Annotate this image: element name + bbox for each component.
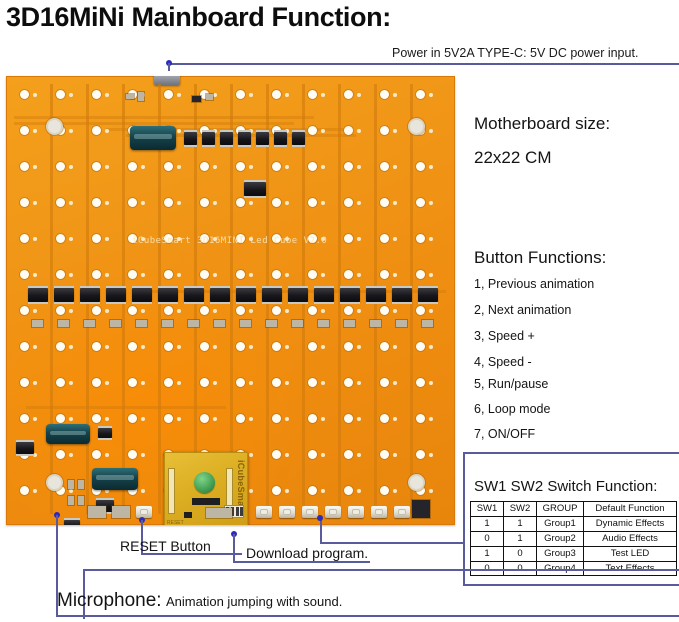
table-cell: Audio Effects — [584, 531, 677, 546]
pcb-via — [105, 273, 109, 277]
pcb-via — [321, 453, 325, 457]
pcb-via — [177, 129, 181, 133]
button-function-item: 3, Speed + — [474, 329, 535, 343]
pcb-via — [141, 453, 145, 457]
pcb-pad — [380, 414, 389, 423]
table-header-cell: Default Function — [584, 502, 677, 517]
pcb-pad — [380, 270, 389, 279]
pcb-pad — [20, 306, 29, 315]
pcb-via — [141, 201, 145, 205]
pcb-via — [321, 129, 325, 133]
module-reset-label: RESET — [167, 520, 184, 525]
pcb-via — [393, 273, 397, 277]
pcb-via — [33, 381, 37, 385]
pcb-pad — [308, 162, 317, 171]
pcb-via — [357, 381, 361, 385]
led-driver-ic — [54, 288, 74, 302]
pcb-pad — [200, 414, 209, 423]
pcb-via — [249, 201, 253, 205]
pcb-via — [285, 489, 289, 493]
smd-resistor — [138, 92, 144, 101]
pcb-pad — [272, 378, 281, 387]
led-driver-ic — [158, 288, 178, 302]
pcb-via — [393, 381, 397, 385]
pcb-pad — [56, 162, 65, 171]
button-function-item: 1, Previous animation — [474, 277, 594, 291]
pcb-via — [105, 381, 109, 385]
table-cell: 1 — [504, 531, 537, 546]
pcb-via — [393, 129, 397, 133]
pcb-pad — [308, 342, 317, 351]
pcb-via — [393, 345, 397, 349]
pcb-via — [177, 309, 181, 313]
pcb-pad — [344, 234, 353, 243]
pcb-via — [429, 453, 433, 457]
smd-resistor-pair — [240, 320, 251, 327]
pcb-pad — [308, 270, 317, 279]
led-driver-ic — [366, 288, 386, 302]
smd-resistor-pair — [344, 320, 355, 327]
mounting-hole — [410, 476, 423, 489]
pcb-via — [249, 165, 253, 169]
pcb-trace — [14, 116, 314, 119]
pcb-via — [429, 237, 433, 241]
smd-resistor — [68, 480, 74, 489]
pcb-pad — [20, 270, 29, 279]
pcb-pad — [56, 414, 65, 423]
pcb-via — [357, 345, 361, 349]
smd-resistor — [68, 496, 74, 505]
pcb-pad — [128, 378, 137, 387]
pcb-via — [429, 165, 433, 169]
table-cell: 0 — [504, 546, 537, 561]
download-program-label: Download program. — [246, 545, 368, 561]
pcb-via — [33, 129, 37, 133]
pcb-via — [177, 381, 181, 385]
pcb-via — [429, 93, 433, 97]
mounting-hole — [48, 476, 61, 489]
pcb-pad — [344, 306, 353, 315]
pcb-pad — [380, 198, 389, 207]
pcb-pad — [128, 342, 137, 351]
pcb-via — [321, 345, 325, 349]
pcb-via — [321, 273, 325, 277]
table-cell: Group3 — [537, 546, 584, 561]
module-chip — [184, 512, 192, 518]
function-button[interactable] — [256, 506, 272, 518]
pcb-pad — [164, 270, 173, 279]
page-title: 3D16MiNi Mainboard Function: — [6, 2, 391, 33]
pcb-via — [285, 93, 289, 97]
pcb-via — [69, 129, 73, 133]
pcb-pad — [56, 378, 65, 387]
pcb-pad — [380, 342, 389, 351]
smd-resistor-pair — [422, 320, 433, 327]
pcb-via — [177, 345, 181, 349]
pcb-via — [357, 489, 361, 493]
smd-resistor-pair — [162, 320, 173, 327]
function-button[interactable] — [302, 506, 318, 518]
pcb-via — [105, 93, 109, 97]
pcb-via — [33, 273, 37, 277]
led-driver-ic — [288, 288, 308, 302]
pcb-pad — [416, 342, 425, 351]
pcb-pad — [200, 306, 209, 315]
function-button[interactable] — [371, 506, 387, 518]
pcb-via — [141, 165, 145, 169]
pcb-via — [249, 93, 253, 97]
microphone-label: Microphone: — [57, 590, 162, 611]
pcb-pad — [380, 486, 389, 495]
pcb-via — [33, 345, 37, 349]
pcb-pad — [236, 414, 245, 423]
pcb-pad — [200, 198, 209, 207]
pcb-via — [249, 273, 253, 277]
motherboard-size-label: Motherboard size: — [474, 114, 610, 134]
pcb-pad — [92, 234, 101, 243]
pcb-pad — [272, 486, 281, 495]
pcb-via — [69, 309, 73, 313]
switch-function-table: SW1 SW2 GROUP Default Function 1 1 Group… — [470, 501, 677, 576]
electrolytic-capacitor — [130, 126, 176, 150]
pcb-pad — [200, 270, 209, 279]
pcb-via — [429, 345, 433, 349]
pcb-via — [357, 453, 361, 457]
pcb-pad — [344, 162, 353, 171]
pcb-via — [393, 309, 397, 313]
pcb-pad — [56, 90, 65, 99]
pcb-pad — [20, 90, 29, 99]
pcb-via — [357, 417, 361, 421]
pcb-via — [213, 165, 217, 169]
pcb-pad — [272, 162, 281, 171]
pcb-via — [213, 201, 217, 205]
pcb-pad — [200, 162, 209, 171]
pcb-via — [249, 453, 253, 457]
pcb-pad — [344, 378, 353, 387]
pcb-pad — [56, 198, 65, 207]
pcb-via — [69, 489, 73, 493]
pcb-via — [285, 345, 289, 349]
pcb-pad — [416, 198, 425, 207]
driver-ic — [220, 132, 233, 145]
pcb-pad — [272, 90, 281, 99]
microphone-callout-box-bottom — [56, 615, 679, 617]
pcb-via — [33, 237, 37, 241]
pcb-pad — [56, 234, 65, 243]
smd-resistor-pair — [318, 320, 329, 327]
pcb-via — [285, 417, 289, 421]
microphone-callout: Microphone: Animation jumping with sound… — [57, 590, 342, 612]
smd-resistor-pair — [370, 320, 381, 327]
pcb-pad — [416, 270, 425, 279]
reset-tactile-button[interactable] — [136, 506, 152, 518]
pcb-pad — [164, 378, 173, 387]
function-button[interactable] — [279, 506, 295, 518]
led-driver-ic — [314, 288, 334, 302]
pcb-pad — [92, 126, 101, 135]
driver-ic — [202, 132, 215, 145]
pcb-silkscreen-text: iCubeSmart 3D16MINI Led Cube V2.0 — [132, 236, 327, 246]
pcb-pad — [56, 450, 65, 459]
pcb-via — [429, 201, 433, 205]
microphone-description: Animation jumping with sound. — [166, 594, 342, 609]
pcb-via — [429, 489, 433, 493]
pcb-via — [393, 237, 397, 241]
pcb-via — [33, 417, 37, 421]
mounting-hole — [410, 120, 423, 133]
pcb-board: iCubeSmart 3D16MINI Led Cube V2.0 i — [6, 76, 455, 525]
table-header-row: SW1 SW2 GROUP Default Function — [471, 502, 677, 517]
table-row: 1 1 Group1 Dynamic Effects — [471, 516, 677, 531]
pcb-pad — [236, 342, 245, 351]
sw-block[interactable] — [112, 506, 130, 518]
pcb-via — [141, 309, 145, 313]
smd-resistor — [206, 94, 213, 100]
pcb-pad — [236, 306, 245, 315]
pcb-pad — [344, 198, 353, 207]
pcb-pad — [92, 414, 101, 423]
pcb-via — [393, 201, 397, 205]
pcb-pad — [200, 342, 209, 351]
pcb-via — [357, 309, 361, 313]
sw-block[interactable] — [88, 506, 106, 518]
regulator-ic — [64, 520, 80, 525]
pcb-pad — [380, 90, 389, 99]
program-header — [206, 508, 232, 518]
pcb-pad — [164, 342, 173, 351]
led-driver-ic — [262, 288, 282, 302]
pcb-via — [213, 345, 217, 349]
pcb-via — [69, 165, 73, 169]
pcb-pad — [308, 378, 317, 387]
pcb-via — [429, 273, 433, 277]
pcb-via — [141, 345, 145, 349]
pcb-pad — [380, 162, 389, 171]
pcb-via — [141, 273, 145, 277]
pcb-via — [285, 309, 289, 313]
switch-callout-leader — [320, 542, 465, 544]
pcb-via — [321, 165, 325, 169]
power-callout-line — [170, 63, 679, 65]
pcb-pad — [344, 414, 353, 423]
table-row: 1 0 Group3 Test LED — [471, 546, 677, 561]
pcb-via — [393, 165, 397, 169]
table-cell: Test LED — [584, 546, 677, 561]
pcb-pad — [344, 126, 353, 135]
pcb-pad — [416, 234, 425, 243]
pcb-via — [33, 309, 37, 313]
driver-ic — [238, 132, 251, 145]
pcb-pad — [416, 414, 425, 423]
smd-resistor-pair — [58, 320, 69, 327]
pcb-via — [213, 273, 217, 277]
pcb-via — [69, 93, 73, 97]
pcb-via — [105, 237, 109, 241]
download-callout-stem — [233, 534, 235, 561]
pcb-via — [429, 417, 433, 421]
pcb-pad — [416, 162, 425, 171]
button-functions-title: Button Functions: — [474, 248, 606, 268]
pcb-pad — [272, 414, 281, 423]
pcb-via — [357, 201, 361, 205]
pcb-pad — [380, 234, 389, 243]
pcb-pad — [128, 162, 137, 171]
pcb-via — [69, 381, 73, 385]
switch-callout-stem — [320, 519, 322, 543]
pcb-via — [285, 453, 289, 457]
pcb-via — [249, 381, 253, 385]
module-chip — [192, 498, 220, 505]
driver-ic — [292, 132, 305, 145]
pcb-via — [105, 129, 109, 133]
led-driver-ic — [236, 288, 256, 302]
button-function-item: 7, ON/OFF — [474, 427, 535, 441]
pcb-pad — [164, 198, 173, 207]
pcb-trace — [230, 84, 233, 514]
pcb-pad — [164, 306, 173, 315]
smd-resistor-pair — [136, 320, 147, 327]
pcb-via — [177, 165, 181, 169]
pcb-via — [69, 273, 73, 277]
pcb-via — [357, 129, 361, 133]
pcb-pad — [20, 414, 29, 423]
led-driver-ic — [28, 288, 48, 302]
table-cell: Dynamic Effects — [584, 516, 677, 531]
pcb-via — [141, 381, 145, 385]
pcb-pad — [56, 270, 65, 279]
pcb-pad — [20, 126, 29, 135]
pcb-via — [141, 417, 145, 421]
led-driver-ic — [210, 288, 230, 302]
pcb-pad — [92, 198, 101, 207]
crystal-oscillator — [194, 472, 215, 493]
driver-ic — [274, 132, 287, 145]
pcb-pad — [416, 450, 425, 459]
pcb-via — [105, 165, 109, 169]
pcb-via — [321, 93, 325, 97]
pcb-pad — [344, 90, 353, 99]
pcb-via — [321, 489, 325, 493]
smd-diode — [192, 96, 201, 102]
smd-resistor-pair — [188, 320, 199, 327]
pcb-pad — [20, 198, 29, 207]
smd-resistor — [78, 496, 84, 505]
led-driver-ic — [184, 288, 204, 302]
pcb-pad — [128, 414, 137, 423]
pcb-pad — [164, 162, 173, 171]
pcb-pad — [308, 486, 317, 495]
pcb-via — [105, 417, 109, 421]
power-terminal — [412, 500, 430, 518]
button-function-item: 2, Next animation — [474, 303, 571, 317]
electrolytic-capacitor — [92, 468, 138, 490]
pcb-pad — [416, 306, 425, 315]
pcb-via — [69, 201, 73, 205]
led-driver-ic — [418, 288, 438, 302]
pcb-pad — [200, 378, 209, 387]
smd-resistor-pair — [84, 320, 95, 327]
pcb-via — [105, 201, 109, 205]
led-driver-ic — [106, 288, 126, 302]
regulator-ic — [98, 428, 112, 438]
pcb-via — [321, 201, 325, 205]
pcb-trace — [50, 84, 53, 514]
smd-resistor — [78, 480, 84, 489]
driver-ic — [256, 132, 269, 145]
pcb-pad — [128, 306, 137, 315]
pcb-pad — [92, 342, 101, 351]
pcb-via — [285, 165, 289, 169]
table-header-cell: SW1 — [471, 502, 504, 517]
function-button[interactable] — [394, 506, 410, 518]
table-cell: 1 — [504, 516, 537, 531]
pcb-via — [141, 489, 145, 493]
pcb-via — [249, 417, 253, 421]
pcb-pad — [92, 306, 101, 315]
driver-ic — [184, 132, 197, 145]
pcb-via — [393, 417, 397, 421]
button-function-item: 5, Run/pause — [474, 377, 548, 391]
pcb-pad — [308, 306, 317, 315]
pcb-via — [69, 453, 73, 457]
table-row: 0 1 Group2 Audio Effects — [471, 531, 677, 546]
slide-root: 3D16MiNi Mainboard Function: Power in 5V… — [0, 0, 679, 622]
pcb-via — [33, 165, 37, 169]
pcb-pad — [344, 486, 353, 495]
pcb-via — [177, 201, 181, 205]
pcb-via — [105, 345, 109, 349]
pcb-pad — [164, 90, 173, 99]
function-button[interactable] — [348, 506, 364, 518]
pcb-pad — [20, 378, 29, 387]
download-callout-underline — [233, 561, 370, 563]
pcb-via — [69, 345, 73, 349]
smd-resistor-pair — [292, 320, 303, 327]
smd-resistor-pair — [32, 320, 43, 327]
table-cell: 0 — [471, 531, 504, 546]
pcb-via — [105, 453, 109, 457]
pcb-via — [429, 129, 433, 133]
pcb-pad — [92, 90, 101, 99]
pcb-via — [213, 417, 217, 421]
pcb-pad — [272, 342, 281, 351]
electrolytic-capacitor — [46, 424, 90, 444]
pcb-pad — [308, 198, 317, 207]
reset-button-label: RESET Button — [120, 538, 211, 554]
led-driver-ic — [80, 288, 100, 302]
pcb-trace — [26, 406, 226, 409]
pcb-via — [357, 237, 361, 241]
pcb-pad — [92, 270, 101, 279]
module-header-left — [168, 468, 175, 514]
pcb-pad — [92, 450, 101, 459]
pcb-via — [105, 309, 109, 313]
pcb-via — [357, 165, 361, 169]
table-cell: Group2 — [537, 531, 584, 546]
button-function-item: 6, Loop mode — [474, 402, 550, 416]
pcb-via — [69, 417, 73, 421]
smd-resistor-pair — [396, 320, 407, 327]
pcb-via — [393, 489, 397, 493]
pcb-pad — [344, 450, 353, 459]
pcb-via — [177, 93, 181, 97]
pcb-pad — [272, 306, 281, 315]
pcb-pad — [272, 270, 281, 279]
function-button[interactable] — [325, 506, 341, 518]
pcb-via — [429, 381, 433, 385]
pcb-via — [69, 237, 73, 241]
